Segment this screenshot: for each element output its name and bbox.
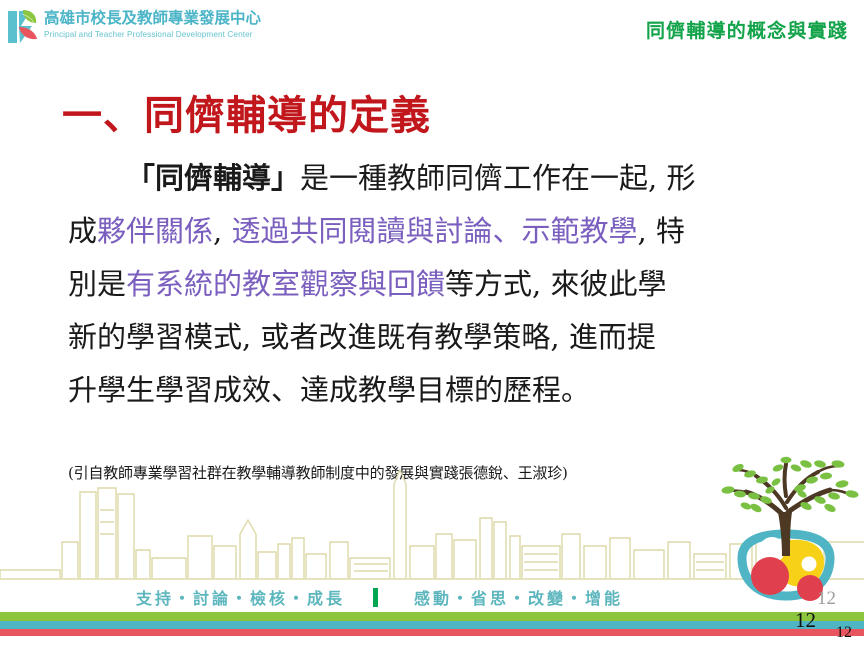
body-text-run: 新的學習模式, 或者改進既有教學策略, 進而提 (68, 320, 656, 354)
body-text-line: 成夥伴關係, 透過共同閱讀與討論、示範教學, 特 (68, 205, 808, 258)
body-text-run: 」 (271, 161, 300, 195)
body-text-line: 新的學習模式, 或者改進既有教學策略, 進而提 (68, 311, 808, 364)
slide-canvas: 高雄市校長及教師專業發展中心 Principal and Teacher Pro… (0, 0, 864, 648)
body-text-run: 成 (68, 214, 97, 248)
body-text-run: , 特 (637, 214, 684, 248)
page-number-small: 12 (836, 624, 852, 642)
body-text-run: 透過共同閱讀與討論、示範教學 (231, 214, 637, 248)
body-text-run: 等方式, 來彼此學 (445, 267, 666, 301)
footer-bar-red (0, 629, 864, 636)
body-text-line: 升學生學習成效、達成教學目標的歷程。 (68, 364, 808, 417)
body-text-run: 是一種教師同儕工作在一起, 形 (300, 161, 695, 195)
footer-slogans: 支持・討論・檢核・成長 感動・省思・改變・增能 (0, 582, 864, 612)
body-text-run: , (213, 214, 231, 248)
body-text-run: 有系統的教室觀察與回饋 (126, 267, 445, 301)
body-text-line: 別是有系統的教室觀察與回饋等方式, 來彼此學 (68, 258, 808, 311)
body-text-run: 同儕輔導 (155, 161, 271, 195)
organization-logo: 高雄市校長及教師專業發展中心 Principal and Teacher Pro… (6, 8, 256, 48)
logo-title-chinese: 高雄市校長及教師專業發展中心 (44, 9, 259, 28)
ktpdc-leaf-logo-icon (6, 8, 40, 46)
footer-slogan-divider-icon (373, 588, 378, 607)
section-title: 同儕輔導的概念與實踐 (646, 16, 848, 43)
logo-title-english: Principal and Teacher Professional Devel… (44, 29, 259, 40)
body-text-run: 夥伴關係 (97, 214, 213, 248)
body-text-line: 「同儕輔導」是一種教師同儕工作在一起, 形 (68, 152, 808, 205)
page-number-main: 12 (795, 608, 816, 633)
footer-slogan-left: 支持・討論・檢核・成長 (136, 585, 345, 609)
logo-text: 高雄市校長及教師專業發展中心 Principal and Teacher Pro… (44, 9, 259, 40)
slide-body-text: 「同儕輔導」是一種教師同儕工作在一起, 形成夥伴關係, 透過共同閱讀與討論、示範… (68, 152, 808, 417)
citation-source: (引自教師專業學習社群在教學輔導教師制度中的發展與實踐張德銳、王淑珍) (68, 462, 568, 483)
footer-slogan-right: 感動・省思・改變・增能 (414, 585, 623, 609)
body-text-run: 升學生學習成效、達成教學目標的歷程。 (68, 373, 590, 407)
body-text-run: 「 (126, 161, 155, 195)
body-text-run: 別是 (68, 267, 126, 301)
page-title: 一、同儕輔導的定義 (62, 83, 431, 141)
page-number-gray: 12 (817, 588, 836, 610)
